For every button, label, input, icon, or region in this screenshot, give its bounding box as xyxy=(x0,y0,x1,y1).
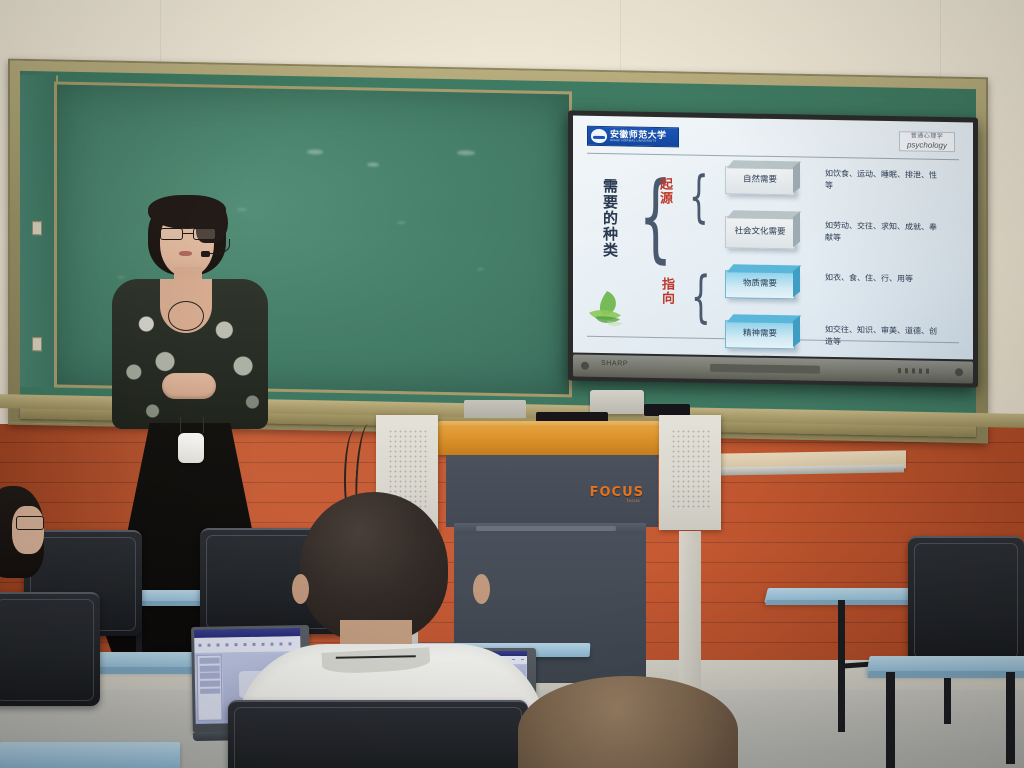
display-brand-label: SHARP xyxy=(601,360,628,367)
podium-leg-right xyxy=(679,531,701,691)
need-cube-natural-label: 自然需要 xyxy=(743,176,777,186)
sub-brace-origin-icon: { xyxy=(689,170,709,226)
university-logo: 安徽师范大学 ANHUI NORMAL UNIVERSITY xyxy=(587,126,679,148)
headset-microphone-tip xyxy=(201,251,210,257)
leaf-decoration-icon xyxy=(585,287,639,334)
display-ir-sensor xyxy=(710,364,820,374)
wireless-mic-transmitter xyxy=(178,433,204,463)
course-tag-en: psychology xyxy=(907,140,947,150)
flat-panel-display[interactable]: 安徽师范大学 ANHUI NORMAL UNIVERSITY 普通心理学 psy… xyxy=(568,110,978,387)
need-cube-spiritual-label: 精神需要 xyxy=(743,330,777,340)
student-left-edge xyxy=(0,486,68,596)
podium-wood-top xyxy=(438,427,670,455)
slide-title: 需要的种类 xyxy=(595,178,617,258)
need-desc-natural: 如饮食、运动、睡眠、排泄、性等 xyxy=(825,168,937,194)
student-chair-foreground-left xyxy=(0,592,100,706)
need-cube-spiritual: 精神需要 xyxy=(725,320,795,349)
need-desc-material: 如衣、食、住、行、用等 xyxy=(825,272,937,286)
presentation-slide: 安徽师范大学 ANHUI NORMAL UNIVERSITY 普通心理学 psy… xyxy=(573,116,973,360)
sub-brace-direction-icon: { xyxy=(691,270,711,326)
need-cube-natural: 自然需要 xyxy=(725,166,795,195)
branch-label-origin: 起源 xyxy=(655,177,674,205)
university-name-en: ANHUI NORMAL UNIVERSITY xyxy=(610,139,664,143)
display-bezel-chin: SHARP xyxy=(573,355,973,384)
slide-divider-top xyxy=(587,153,959,160)
display-control-buttons[interactable] xyxy=(898,368,929,374)
student-desk-bottom-left xyxy=(0,742,180,768)
student-chair-foreground-center xyxy=(228,700,528,768)
branch-label-direction: 指向 xyxy=(657,277,676,305)
course-tag: 普通心理学 psychology xyxy=(899,131,955,152)
need-cube-material: 物质需要 xyxy=(725,270,795,299)
podium-monitor xyxy=(464,400,526,418)
classroom-scene: 安徽师范大学 ANHUI NORMAL UNIVERSITY 普通心理学 psy… xyxy=(0,0,1024,768)
podium-brand-sublabel: focus xyxy=(627,498,640,503)
headset-microphone-boom xyxy=(207,239,230,254)
need-cube-sociocultural: 社会文化需要 xyxy=(725,216,795,249)
need-cube-sociocultural-label: 社会文化需要 xyxy=(734,228,785,238)
need-desc-spiritual: 如交往、知识、审美、道德、创造等 xyxy=(825,324,937,350)
need-desc-sociocultural: 如劳动、交往、求知、成就、奉献等 xyxy=(825,220,937,246)
student-chair-back-right xyxy=(908,536,1024,664)
av-equipment-box xyxy=(590,390,644,414)
need-cube-material-label: 物质需要 xyxy=(743,280,777,290)
podium-speaker-right xyxy=(659,415,721,530)
instructor-hands xyxy=(162,373,216,399)
university-crest-icon xyxy=(591,129,607,143)
student-left-glasses xyxy=(16,516,44,530)
